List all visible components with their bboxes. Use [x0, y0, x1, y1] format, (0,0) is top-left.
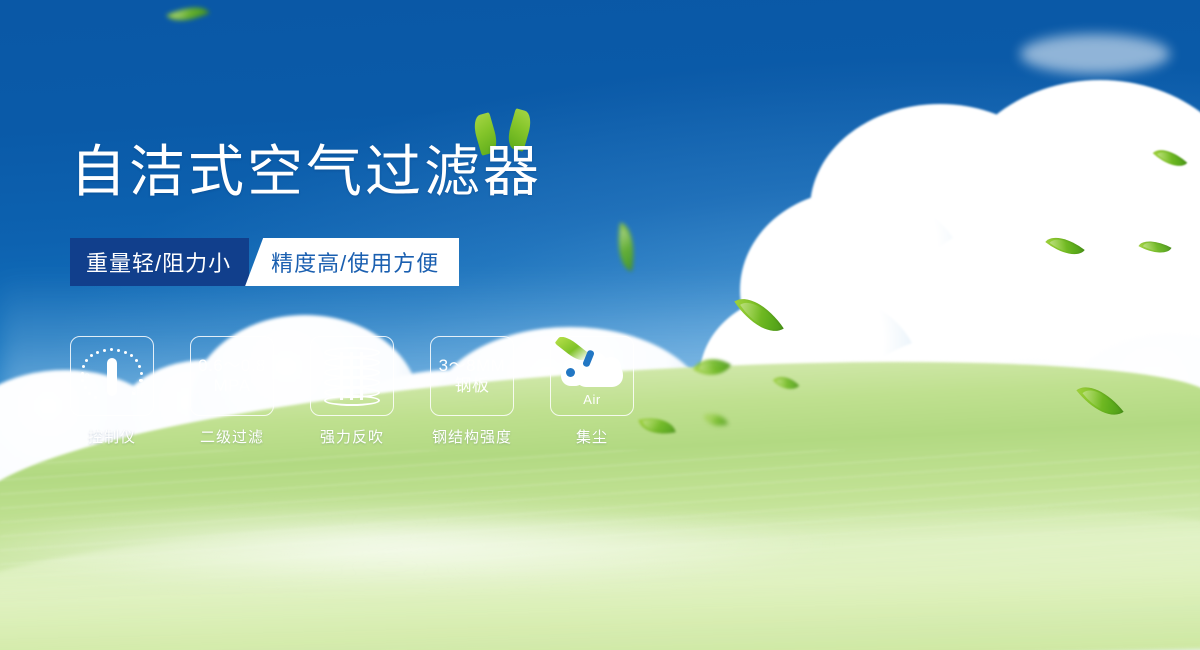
- grass-highlight: [0, 500, 840, 590]
- feature-caption: 集尘: [576, 426, 608, 447]
- feature-list: NO OFF 控制仪 0.6～0.8 MPA 二级过滤: [70, 336, 634, 447]
- pressure-value: 0.6～0.8: [198, 356, 266, 376]
- feature-item-controller[interactable]: NO OFF 控制仪: [70, 336, 154, 447]
- feature-icon-box: NO OFF: [70, 336, 154, 416]
- subtitle-bar: 重量轻/阻力小 精度高/使用方便: [70, 238, 459, 286]
- steel-plate-icon: 3～8MM 钢板: [439, 356, 506, 396]
- air-label: Air: [559, 392, 625, 407]
- filter-stack-icon: [324, 347, 380, 405]
- feature-icon-box: 3～8MM 钢板: [430, 336, 514, 416]
- feature-caption: 二级过滤: [200, 426, 264, 447]
- feature-caption: 钢结构强度: [432, 426, 512, 447]
- pressure-unit: MPA: [198, 376, 266, 396]
- cloud-wisp: [1090, 300, 1200, 334]
- feature-icon-box: Air: [550, 336, 634, 416]
- gauge-needle: [107, 358, 117, 396]
- feature-item-pressure[interactable]: 0.6～0.8 MPA 二级过滤: [190, 336, 274, 447]
- cloud-wisp: [1020, 34, 1170, 74]
- feature-icon-box: 0.6～0.8 MPA: [190, 336, 274, 416]
- page-title: 自洁式空气过滤器: [70, 144, 542, 200]
- gauge-label-off: OFF: [132, 391, 145, 397]
- feature-item-dust[interactable]: Air 集尘: [550, 336, 634, 447]
- feature-caption: 强力反吹: [320, 426, 384, 447]
- product-banner: 自洁式空气过滤器 重量轻/阻力小 精度高/使用方便: [0, 0, 1200, 650]
- gauge-label-no: NO: [80, 374, 90, 380]
- steel-material: 钢板: [439, 376, 506, 396]
- pressure-icon: 0.6～0.8 MPA: [198, 356, 266, 396]
- subtitle-right: 精度高/使用方便: [245, 238, 459, 286]
- feature-icon-box: [310, 336, 394, 416]
- feature-item-blowback[interactable]: 强力反吹: [310, 336, 394, 447]
- steel-thickness: 3～8MM: [439, 356, 506, 376]
- feature-caption: 控制仪: [88, 426, 136, 447]
- air-cloud-icon: Air: [559, 348, 625, 404]
- gauge-icon: NO OFF: [81, 347, 143, 405]
- feature-item-steel[interactable]: 3～8MM 钢板 钢结构强度: [430, 336, 514, 447]
- subtitle-left: 重量轻/阻力小: [70, 238, 249, 286]
